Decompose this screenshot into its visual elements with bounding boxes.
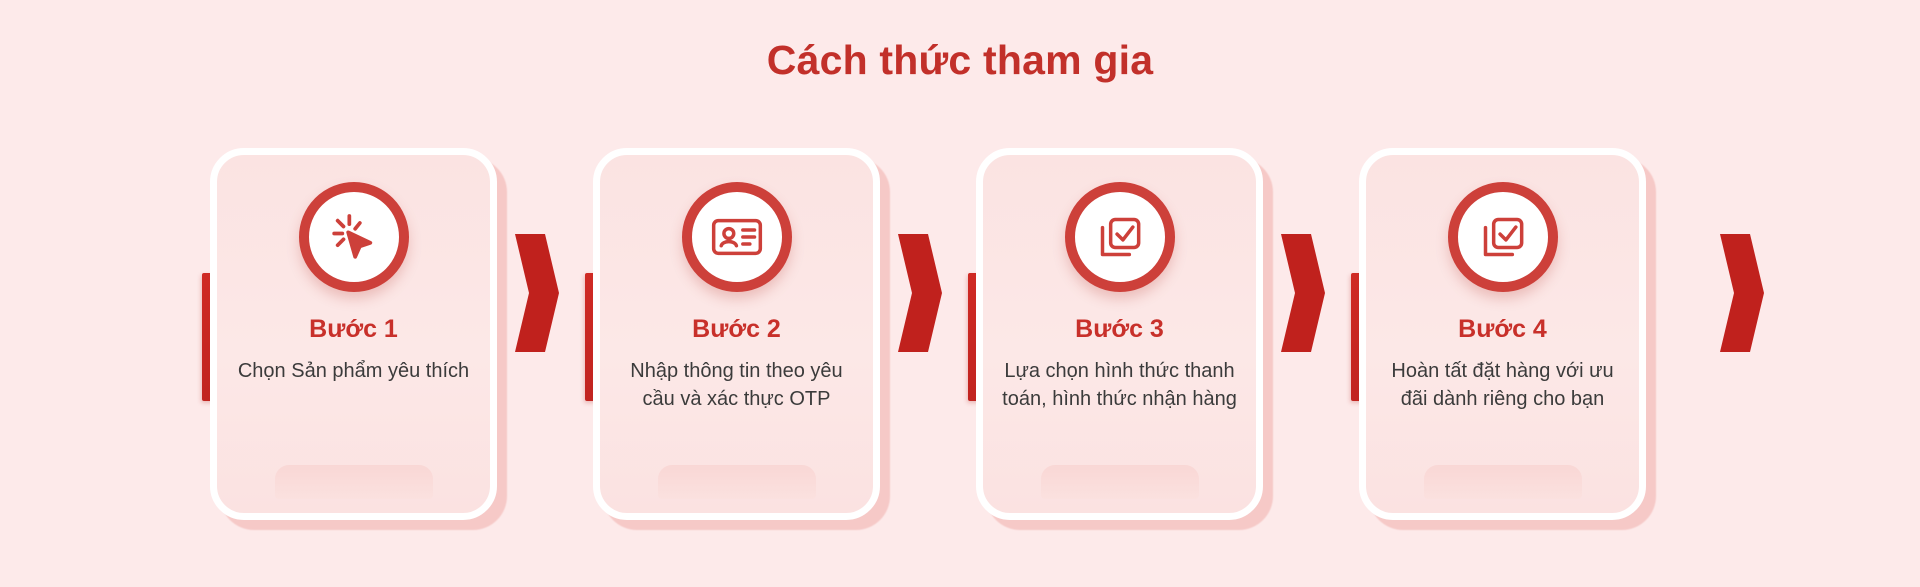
- step-label: Bước 3: [1075, 314, 1164, 344]
- id-card-icon: [682, 182, 792, 292]
- step-card-3[interactable]: Bước 3 Lựa chọn hình thức thanh toán, hì…: [976, 148, 1269, 548]
- step-connector-1: [503, 148, 593, 548]
- step-card-2[interactable]: Bước 2 Nhập thông tin theo yêu cầu và xá…: [593, 148, 886, 548]
- promo-steps-banner: Cách thức tham gia Bước 1 Chọn: [0, 0, 1920, 587]
- chevron-right-icon: [515, 234, 559, 352]
- step-description: Hoàn tất đặt hàng với ưu đãi dành riêng …: [1385, 358, 1621, 413]
- step-card-1[interactable]: Bước 1 Chọn Sản phẩm yêu thích: [210, 148, 503, 548]
- card-footer-tab: [1041, 465, 1199, 499]
- card-footer-tab: [275, 465, 433, 499]
- step-label: Bước 4: [1458, 314, 1547, 344]
- chevron-right-icon: [1281, 234, 1325, 352]
- step-label: Bước 2: [692, 314, 781, 344]
- checkbox-stack-icon: [1448, 182, 1558, 292]
- card-body[interactable]: Bước 3 Lựa chọn hình thức thanh toán, hì…: [976, 148, 1263, 520]
- step-card-4[interactable]: Bước 4 Hoàn tất đặt hàng với ưu đãi dành…: [1359, 148, 1652, 548]
- step-connector-2: [886, 148, 976, 548]
- step-connector-3: [1269, 148, 1359, 548]
- step-label: Bước 1: [309, 314, 398, 344]
- card-footer-tab: [658, 465, 816, 499]
- card-footer-tab: [1424, 465, 1582, 499]
- chevron-right-icon-trailing: [1720, 234, 1764, 352]
- card-body[interactable]: Bước 4 Hoàn tất đặt hàng với ưu đãi dành…: [1359, 148, 1646, 520]
- page-title: Cách thức tham gia: [0, 36, 1920, 85]
- card-body[interactable]: Bước 1 Chọn Sản phẩm yêu thích: [210, 148, 497, 520]
- step-description: Nhập thông tin theo yêu cầu và xác thực …: [619, 358, 855, 413]
- checkbox-stack-icon: [1065, 182, 1175, 292]
- chevron-right-icon: [898, 234, 942, 352]
- card-body[interactable]: Bước 2 Nhập thông tin theo yêu cầu và xá…: [593, 148, 880, 520]
- step-description: Lựa chọn hình thức thanh toán, hình thức…: [1002, 358, 1238, 413]
- step-description: Chọn Sản phẩm yêu thích: [236, 358, 472, 386]
- cursor-click-icon: [299, 182, 409, 292]
- steps-row: Bước 1 Chọn Sản phẩm yêu thích: [210, 148, 1720, 548]
